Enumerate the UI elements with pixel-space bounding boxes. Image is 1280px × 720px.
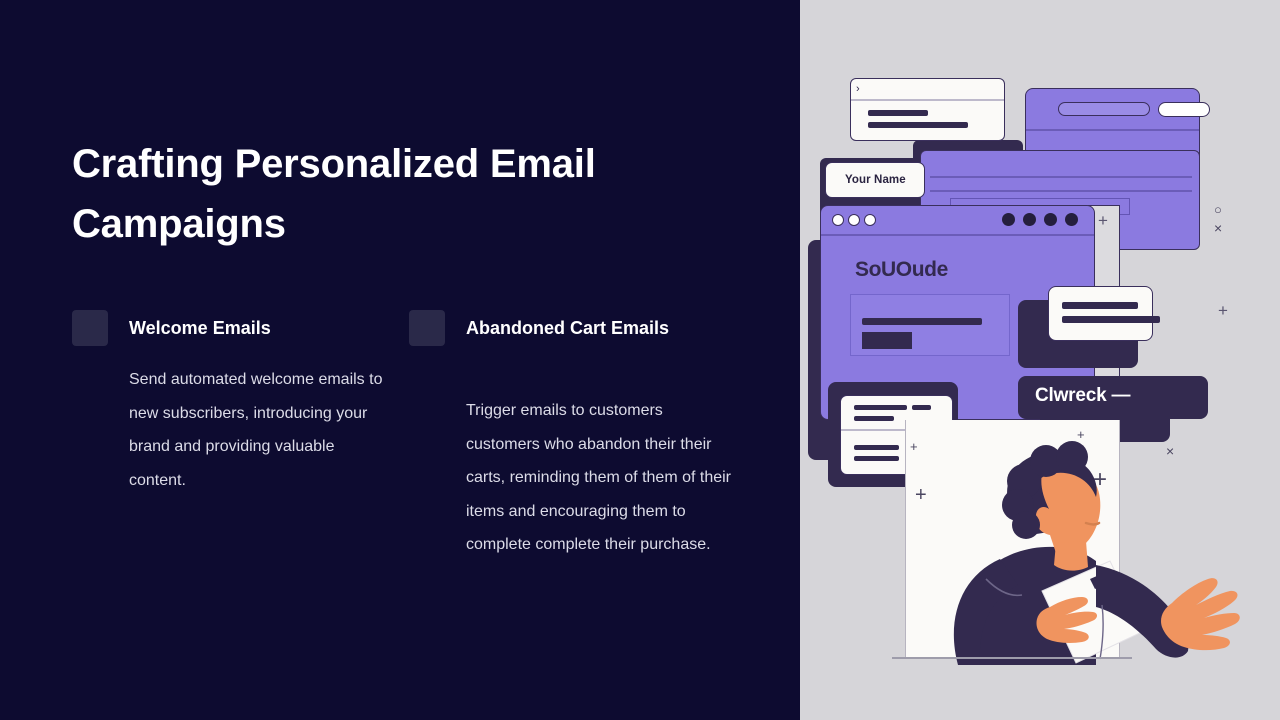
- card-top-line-1: [868, 110, 928, 116]
- card-top-divider: [851, 99, 1004, 101]
- plus-icon: +: [1218, 302, 1228, 319]
- add-tab-plus-icon[interactable]: +: [1098, 212, 1108, 229]
- card-bottom-line-1: [854, 405, 907, 410]
- feature-header: Welcome Emails: [72, 310, 409, 346]
- circle-icon: ○: [1214, 203, 1222, 216]
- form-submit-block[interactable]: [862, 332, 912, 349]
- feature-columns: Welcome Emails Send automated welcome em…: [72, 310, 752, 562]
- illustration-artwork: › Your Name + SoUOude: [800, 0, 1280, 720]
- person-illustration: [890, 415, 1250, 665]
- menu-dot: [1044, 213, 1057, 226]
- page-title: Crafting Personalized Email Campaigns: [72, 134, 672, 254]
- card-right-white: [1048, 286, 1153, 341]
- feature-header: Abandoned Cart Emails: [409, 310, 746, 346]
- brand-label: SoUOude: [855, 258, 948, 282]
- bullet-square-icon: [409, 310, 445, 346]
- menu-dot: [1065, 213, 1078, 226]
- feature-column-abandoned-cart-emails: Abandoned Cart Emails Trigger emails to …: [409, 310, 746, 562]
- slide-root: Crafting Personalized Email Campaigns We…: [0, 0, 1280, 720]
- traffic-light-dot: [864, 214, 876, 226]
- ground-line: [892, 657, 1132, 659]
- window-back-pill-active: [1158, 102, 1210, 117]
- banner-label: Clwreck —: [1035, 385, 1130, 407]
- menu-dot: [1002, 213, 1015, 226]
- feature-column-welcome-emails: Welcome Emails Send automated welcome em…: [72, 310, 409, 562]
- menu-dot: [1023, 213, 1036, 226]
- chevron-right-icon: ›: [856, 83, 860, 95]
- card-top-line-2: [868, 122, 968, 128]
- card-right-line-1: [1062, 302, 1138, 309]
- feature-title: Welcome Emails: [129, 310, 271, 346]
- window-mid-line-1: [930, 176, 1192, 178]
- close-icon[interactable]: ×: [1214, 221, 1222, 235]
- card-bottom-line-3: [854, 416, 894, 421]
- bullet-square-icon: [72, 310, 108, 346]
- window-back-divider: [1026, 129, 1199, 131]
- field-your-name-label: Your Name: [845, 174, 906, 186]
- window-back-pill: [1058, 102, 1150, 116]
- feature-title: Abandoned Cart Emails: [466, 310, 669, 346]
- card-bottom-line-2: [912, 405, 931, 410]
- feature-body: Send automated welcome emails to new sub…: [129, 363, 391, 497]
- feature-body: Trigger emails to customers customers wh…: [466, 394, 734, 562]
- traffic-light-dot: [848, 214, 860, 226]
- window-main-header-divider: [821, 234, 1094, 236]
- traffic-light-dot: [832, 214, 844, 226]
- window-mid-line-2: [930, 190, 1192, 192]
- form-field-line: [862, 318, 982, 325]
- left-content-panel: Crafting Personalized Email Campaigns We…: [0, 0, 800, 720]
- card-right-line-2: [1062, 316, 1160, 323]
- illustration-panel: › Your Name + SoUOude: [800, 0, 1280, 720]
